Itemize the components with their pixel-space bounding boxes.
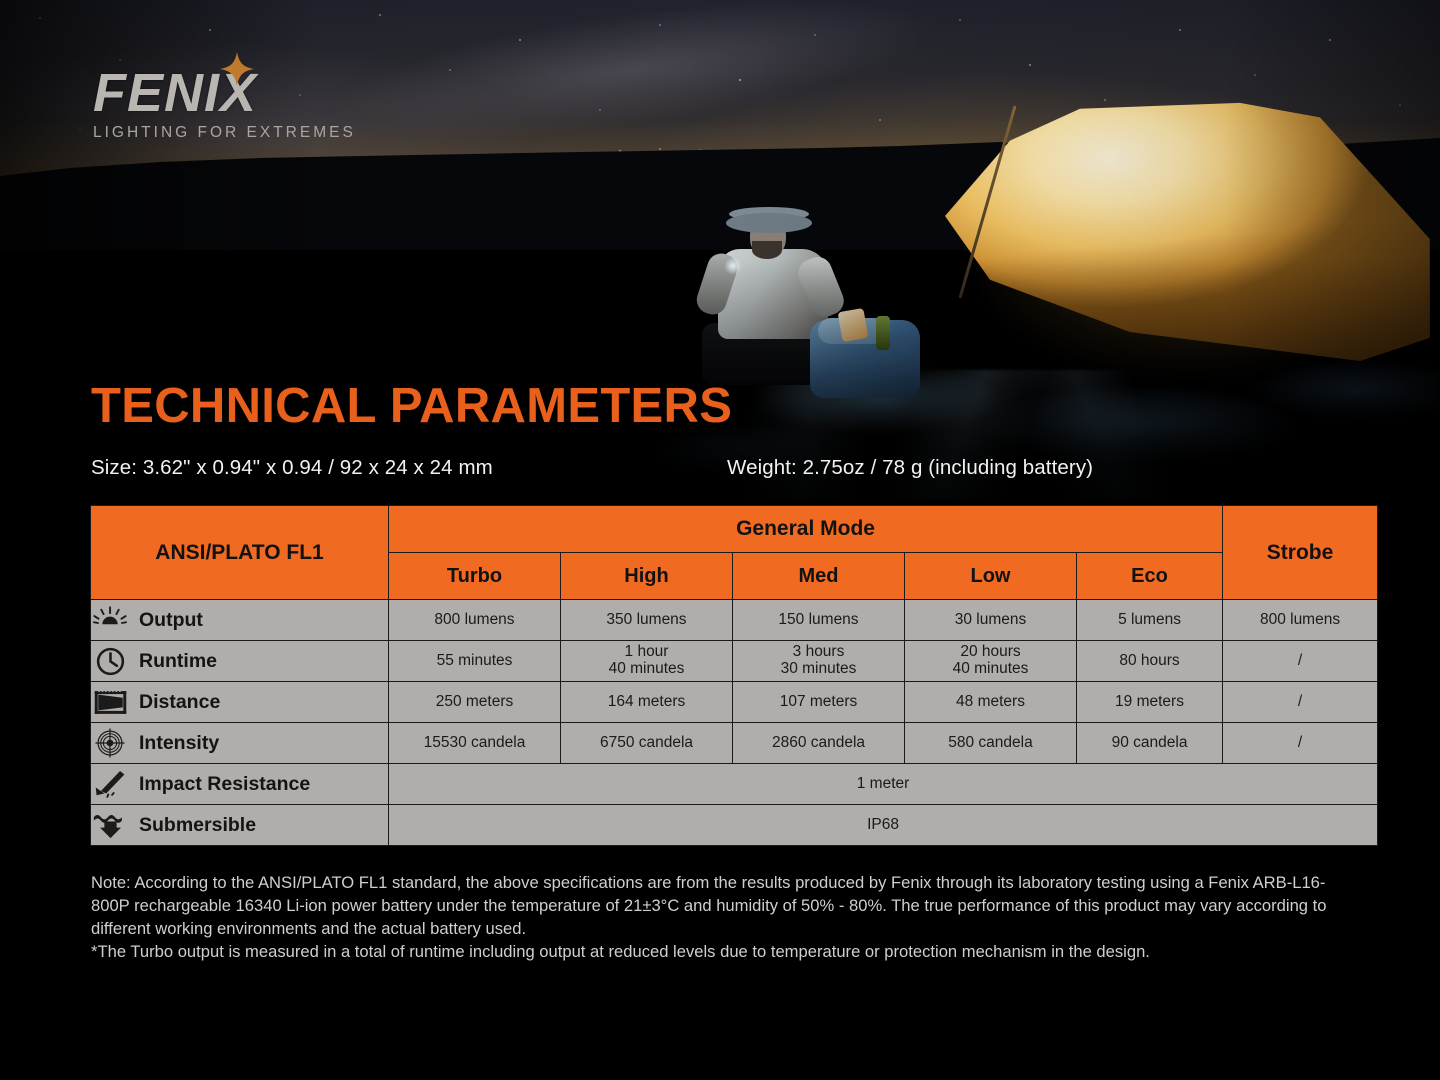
cell-intensity-low: 580 candela	[905, 723, 1077, 764]
cell-intensity-med: 2860 candela	[733, 723, 905, 764]
cell-runtime-strobe: /	[1223, 641, 1378, 682]
cell-intensity-turbo: 15530 candela	[389, 723, 561, 764]
target-icon	[91, 728, 129, 758]
cell-runtime-low: 20 hours40 minutes	[905, 641, 1077, 682]
row-label-text: Distance	[139, 691, 220, 714]
mode-header-eco: Eco	[1077, 553, 1223, 600]
mode-header-med: Med	[733, 553, 905, 600]
row-label-distance: Distance	[91, 682, 389, 723]
cell-output-low: 30 lumens	[905, 600, 1077, 641]
sunburst-icon	[91, 605, 129, 635]
table-body: Output800 lumens350 lumens150 lumens30 l…	[91, 600, 1378, 846]
footnote-line-2: *The Turbo output is measured in a total…	[91, 941, 1361, 964]
general-mode-header: General Mode	[389, 506, 1223, 553]
cell-distance-low: 48 meters	[905, 682, 1077, 723]
footnote: Note: According to the ANSI/PLATO FL1 st…	[91, 872, 1361, 964]
impact-icon	[91, 769, 129, 799]
cell-distance-eco: 19 meters	[1077, 682, 1223, 723]
cell-intensity-eco: 90 candela	[1077, 723, 1223, 764]
cell-output-high: 350 lumens	[561, 600, 733, 641]
footnote-line-1: Note: According to the ANSI/PLATO FL1 st…	[91, 872, 1361, 941]
row-label-output: Output	[91, 600, 389, 641]
brand-tagline: LIGHTING FOR EXTREMES	[93, 124, 423, 142]
cell-distance-turbo: 250 meters	[389, 682, 561, 723]
cell-output-med: 150 lumens	[733, 600, 905, 641]
clock-icon	[91, 646, 129, 676]
cell-runtime-med: 3 hours30 minutes	[733, 641, 905, 682]
table-row: Output800 lumens350 lumens150 lumens30 l…	[91, 600, 1378, 641]
row-label-submersible: Submersible	[91, 805, 389, 846]
row-label-text: Output	[139, 609, 203, 632]
cell-runtime-high: 1 hour40 minutes	[561, 641, 733, 682]
row-label-text: Runtime	[139, 650, 217, 673]
cell-intensity-high: 6750 candela	[561, 723, 733, 764]
size-spec: Size: 3.62" x 0.94" x 0.94 / 92 x 24 x 2…	[91, 456, 493, 480]
row-label-impact-resistance: Impact Resistance	[91, 764, 389, 805]
table-row: SubmersibleIP68	[91, 805, 1378, 846]
brand-name: FENIX	[93, 66, 423, 120]
mode-header-high: High	[561, 553, 733, 600]
cell-impact-resistance-value: 1 meter	[389, 764, 1378, 805]
technical-parameters-table: ANSI/PLATO FL1 General Mode Strobe Turbo…	[90, 505, 1378, 846]
cell-distance-med: 107 meters	[733, 682, 905, 723]
beam-ruler-icon	[91, 687, 129, 717]
table-row: Intensity15530 candela6750 candela2860 c…	[91, 723, 1378, 764]
mode-header-turbo: Turbo	[389, 553, 561, 600]
table-header-row-1: ANSI/PLATO FL1 General Mode Strobe	[91, 506, 1378, 553]
row-label-text: Submersible	[139, 814, 256, 837]
cell-output-strobe: 800 lumens	[1223, 600, 1378, 641]
ansi-plato-header: ANSI/PLATO FL1	[91, 506, 389, 600]
row-label-runtime: Runtime	[91, 641, 389, 682]
cell-output-turbo: 800 lumens	[389, 600, 561, 641]
table-row: Impact Resistance1 meter	[91, 764, 1378, 805]
cell-distance-strobe: /	[1223, 682, 1378, 723]
row-label-text: Impact Resistance	[139, 773, 310, 796]
cell-runtime-turbo: 55 minutes	[389, 641, 561, 682]
table-row: Runtime55 minutes1 hour40 minutes3 hours…	[91, 641, 1378, 682]
cell-output-eco: 5 lumens	[1077, 600, 1223, 641]
cell-submersible-value: IP68	[389, 805, 1378, 846]
page-title: TECHNICAL PARAMETERS	[91, 382, 732, 431]
cell-distance-high: 164 meters	[561, 682, 733, 723]
cell-intensity-strobe: /	[1223, 723, 1378, 764]
four-point-star-icon	[220, 52, 254, 86]
table-row: Distance250 meters164 meters107 meters48…	[91, 682, 1378, 723]
mode-header-low: Low	[905, 553, 1077, 600]
row-label-intensity: Intensity	[91, 723, 389, 764]
submersible-icon	[91, 810, 129, 840]
fenix-logo: FENIX LIGHTING FOR EXTREMES	[93, 66, 423, 146]
cell-runtime-eco: 80 hours	[1077, 641, 1223, 682]
strobe-header: Strobe	[1223, 506, 1378, 600]
row-label-text: Intensity	[139, 732, 219, 755]
weight-spec: Weight: 2.75oz / 78 g (including battery…	[727, 456, 1093, 480]
